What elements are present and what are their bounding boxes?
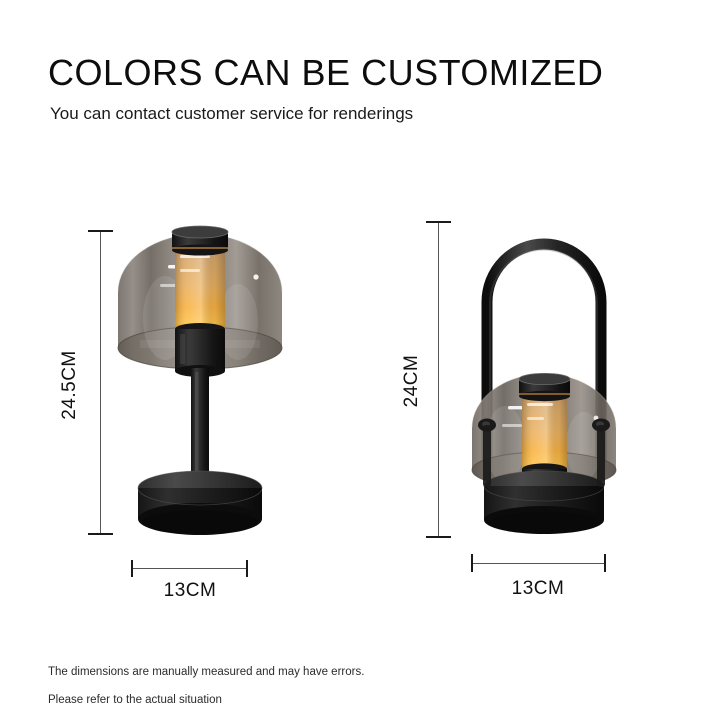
- right-height-dimension-line: [438, 222, 439, 536]
- left-height-label: 24.5CM: [59, 345, 81, 425]
- right-width-tick-left: [471, 554, 473, 572]
- lamp-filament-bulb: [175, 247, 225, 335]
- right-height-tick-top: [426, 221, 451, 223]
- left-height-dimension-line: [100, 231, 101, 534]
- lamp-base: [138, 471, 262, 535]
- right-width-tick-right: [604, 554, 606, 572]
- page-title: COLORS CAN BE CUSTOMIZED: [48, 52, 603, 94]
- product-image-stem-table-lamp: [110, 222, 290, 537]
- right-width-dimension-line: [471, 563, 606, 564]
- left-width-tick-left: [131, 560, 133, 577]
- right-height-label: 24CM: [401, 346, 423, 416]
- stem-table-lamp-illustration: [110, 222, 290, 537]
- left-width-dimension-line: [131, 568, 248, 569]
- product-image-lantern-table-lamp: [450, 228, 640, 540]
- left-height-tick-top: [88, 230, 113, 232]
- left-width-label: 13CM: [130, 580, 250, 602]
- lantern-table-lamp-illustration: [450, 228, 640, 540]
- right-height-tick-bottom: [426, 536, 451, 538]
- lamp-base: [484, 471, 604, 534]
- page-subtitle: You can contact customer service for ren…: [50, 103, 413, 125]
- lamp-top-cap: [519, 373, 570, 401]
- left-width-tick-right: [246, 560, 248, 577]
- right-width-label: 13CM: [478, 578, 598, 600]
- disclaimer-line-2: Please refer to the actual situation: [48, 692, 222, 708]
- lamp-filament-bulb: [522, 393, 567, 476]
- disclaimer-line-1: The dimensions are manually measured and…: [48, 664, 364, 680]
- left-height-tick-bottom: [88, 533, 113, 535]
- lamp-top-cap: [172, 226, 228, 256]
